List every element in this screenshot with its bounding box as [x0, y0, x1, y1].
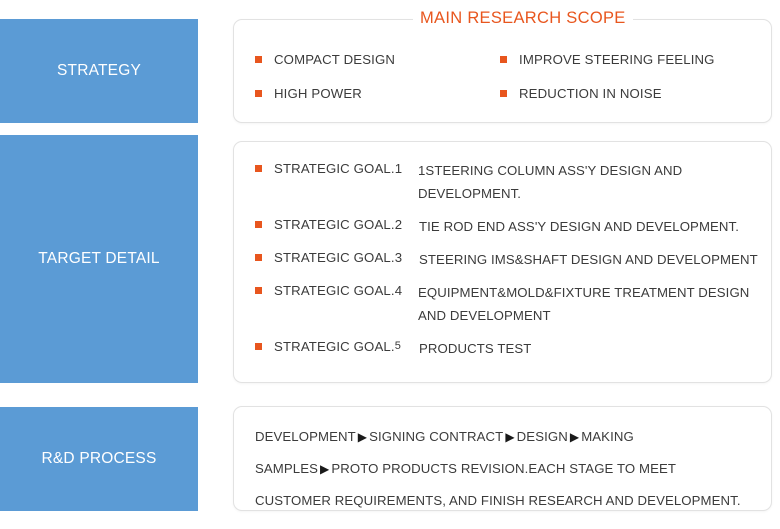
orange-square-bullet-icon: [500, 90, 507, 97]
list-item: REDUCTION IN NOISE: [500, 86, 761, 101]
goal-name: STRATEGIC GOAL.2: [274, 215, 419, 234]
goal-name: STRATEGIC GOAL.1: [274, 159, 418, 178]
goal-name-text: STRATEGIC GOAL.: [274, 250, 395, 265]
process-flow-text: DEVELOPMENT▶SIGNING CONTRACT▶DESIGN▶MAKI…: [255, 421, 753, 516]
goal-index: 3: [395, 250, 402, 265]
goal-description: EQUIPMENT&MOLD&FIXTURE TREATMENT DESIGN …: [418, 281, 763, 327]
section-label-target-detail: TARGET DETAIL: [0, 135, 198, 383]
goal-name-text: STRATEGIC GOAL.: [274, 161, 395, 176]
goal-description: STEERING IMS&SHAFT DESIGN AND DEVELOPMEN…: [419, 248, 758, 271]
orange-square-bullet-icon: [500, 56, 507, 63]
section-label-strategy-text: STRATEGY: [57, 62, 141, 80]
goal-index: 1: [395, 161, 402, 176]
orange-square-bullet-icon: [255, 165, 262, 172]
goal-description: TIE ROD END ASS'Y DESIGN AND DEVELOPMENT…: [419, 215, 739, 238]
goal-name-text: STRATEGIC GOAL.: [274, 217, 395, 232]
panel-title-main-research-scope: MAIN RESEARCH SCOPE: [413, 9, 633, 28]
goal-index: 4: [395, 283, 402, 298]
goal-name-text: STRATEGIC GOAL.: [274, 283, 395, 298]
section-label-rd-process-text: R&D PROCESS: [41, 450, 156, 468]
arrow-right-icon: ▶: [356, 430, 369, 444]
orange-square-bullet-icon: [255, 287, 262, 294]
section-label-rd-process: R&D PROCESS: [0, 407, 198, 511]
list-item: STRATEGIC GOAL.5 PRODUCTS TEST: [255, 332, 763, 365]
list-item: IMPROVE STEERING FEELING: [500, 52, 761, 67]
research-scope-infographic: STRATEGY MAIN RESEARCH SCOPE COMPACT DES…: [0, 0, 780, 529]
scope-bullet-grid: COMPACT DESIGN IMPROVE STEERING FEELING …: [255, 42, 761, 110]
orange-square-bullet-icon: [255, 56, 262, 63]
orange-square-bullet-icon: [255, 90, 262, 97]
goal-index: 2: [395, 217, 402, 232]
section-label-strategy: STRATEGY: [0, 19, 198, 123]
goal-name: STRATEGIC GOAL.5: [274, 337, 419, 356]
arrow-right-icon: ▶: [503, 430, 516, 444]
list-item-label: COMPACT DESIGN: [274, 52, 395, 67]
arrow-right-icon: ▶: [318, 462, 331, 476]
list-item: STRATEGIC GOAL.3 STEERING IMS&SHAFT DESI…: [255, 243, 763, 276]
orange-square-bullet-icon: [255, 221, 262, 228]
process-step: DESIGN: [517, 429, 568, 444]
arrow-right-icon: ▶: [568, 430, 581, 444]
goal-name-text: STRATEGIC GOAL.: [274, 339, 395, 354]
goal-name: STRATEGIC GOAL.3: [274, 248, 419, 267]
panel-main-research-scope: MAIN RESEARCH SCOPE COMPACT DESIGN IMPRO…: [233, 19, 772, 123]
panel-target-detail: STRATEGIC GOAL.1 1STEERING COLUMN ASS'Y …: [233, 141, 772, 383]
list-item: STRATEGIC GOAL.1 1STEERING COLUMN ASS'Y …: [255, 154, 763, 210]
goal-description: 1STEERING COLUMN ASS'Y DESIGN AND DEVELO…: [418, 159, 763, 205]
process-step: SIGNING CONTRACT: [369, 429, 503, 444]
orange-square-bullet-icon: [255, 254, 262, 261]
section-label-target-detail-text: TARGET DETAIL: [38, 250, 159, 268]
goal-description: PRODUCTS TEST: [419, 337, 531, 360]
goal-name: STRATEGIC GOAL.4: [274, 281, 418, 300]
process-step: DEVELOPMENT: [255, 429, 356, 444]
list-item: STRATEGIC GOAL.2 TIE ROD END ASS'Y DESIG…: [255, 210, 763, 243]
orange-square-bullet-icon: [255, 343, 262, 350]
goal-index: 5: [395, 340, 401, 352]
list-item-label: HIGH POWER: [274, 86, 362, 101]
list-item-label: REDUCTION IN NOISE: [519, 86, 662, 101]
list-item: HIGH POWER: [255, 86, 500, 101]
panel-rd-process: DEVELOPMENT▶SIGNING CONTRACT▶DESIGN▶MAKI…: [233, 406, 772, 511]
list-item: COMPACT DESIGN: [255, 52, 500, 67]
target-goal-list: STRATEGIC GOAL.1 1STEERING COLUMN ASS'Y …: [255, 154, 763, 365]
list-item-label: IMPROVE STEERING FEELING: [519, 52, 715, 67]
process-step: PROTO PRODUCTS REVISION: [331, 461, 524, 476]
list-item: STRATEGIC GOAL.4 EQUIPMENT&MOLD&FIXTURE …: [255, 276, 763, 332]
